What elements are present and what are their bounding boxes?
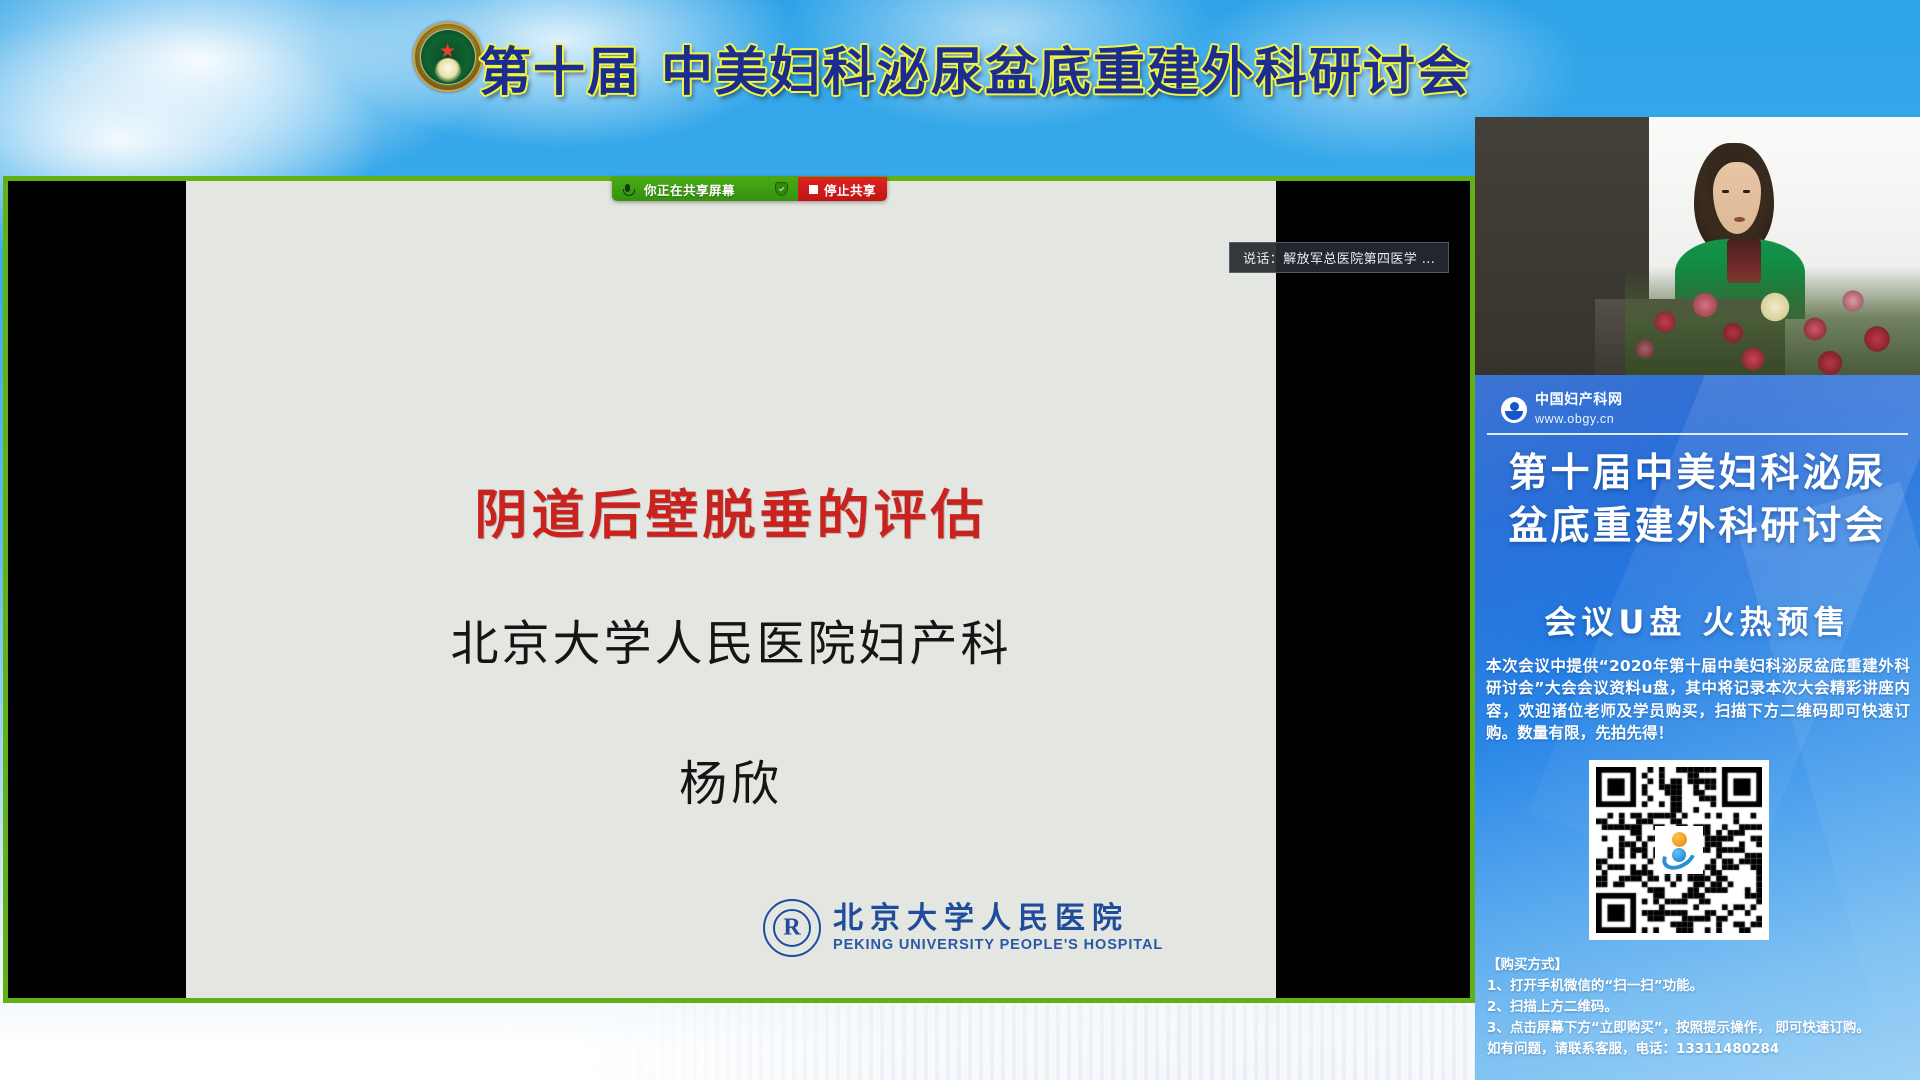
stop-share-button[interactable]: 停止共享 [798,177,887,201]
flower-arrangement [1625,267,1920,375]
obgy-logo-icon [1501,397,1527,423]
purchase-instructions-title: 【购买方式】 [1487,955,1917,976]
purchase-qr-code[interactable] [1589,760,1769,940]
purchase-support-line: 如有问题，请联系客服，电话：13311480284 [1487,1039,1917,1060]
slide-subtitle: 北京大学人民医院妇产科 [186,604,1276,674]
slide-author: 杨欣 [186,744,1276,814]
hospital-logo: R 北京大学人民医院 PEKING UNIVERSITY PEOPLE'S HO… [763,899,1163,957]
qr-logo-dot-blue [1672,848,1686,862]
share-status-label: 你正在共享屏幕 [644,180,735,199]
ad-body-text: 本次会议中提供“2020年第十届中美妇科泌尿盆底重建外科研讨会”大会会议资料u盘… [1486,655,1910,745]
shield-icon[interactable] [775,182,788,196]
ad-headline-line1: 第十届中美妇科泌尿 [1475,447,1920,500]
ad-promo-title: 会议U盘 火热预售 [1475,597,1920,643]
speaker-mouth [1734,217,1745,222]
purchase-step-2: 2、扫描上方二维码。 [1487,997,1917,1018]
conference-ad-panel: 中国妇产科网 www.obgy.cn 第十届中美妇科泌尿 盆底重建外科研讨会 会… [1475,375,1920,1080]
shared-screen-frame: 阴道后壁脱垂的评估 北京大学人民医院妇产科 杨欣 R 北京大学人民医院 PEKI… [3,176,1475,1003]
purchase-instructions: 【购买方式】 1、打开手机微信的“扫一扫”功能。 2、扫描上方二维码。 3、点击… [1487,955,1917,1060]
purchase-step-3: 3、点击屏幕下方“立即购买”，按照提示操作， 即可快速订购。 [1487,1018,1917,1039]
stop-share-label: 停止共享 [824,180,876,199]
presentation-slide: 阴道后壁脱垂的评估 北京大学人民医院妇产科 杨欣 R 北京大学人民医院 PEKI… [186,181,1276,998]
speaker-video-feed[interactable] [1475,117,1920,375]
slide-title: 阴道后壁脱垂的评估 [186,473,1276,549]
screen-share-toolbar[interactable]: 你正在共享屏幕 停止共享 [612,177,887,201]
qr-center-logo-icon [1655,826,1703,874]
microphone-icon[interactable] [621,183,634,196]
hospital-name-en: PEKING UNIVERSITY PEOPLE'S HOSPITAL [833,937,1163,953]
hospital-seal-letter: R [783,915,800,942]
ad-headline: 第十届中美妇科泌尿 盆底重建外科研讨会 [1475,447,1920,553]
purchase-step-1: 1、打开手机微信的“扫一扫”功能。 [1487,976,1917,997]
ad-headline-line2: 盆底重建外科研讨会 [1475,500,1920,553]
speaker-eye-right [1743,190,1750,193]
speaking-indicator: 说话：解放军总医院第四医学 ... [1229,242,1449,273]
ad-divider [1487,433,1908,435]
hospital-name-cn: 北京大学人民医院 [833,903,1163,935]
hospital-seal-icon: R [763,899,821,957]
ad-brand-name: 中国妇产科网 [1535,392,1623,408]
shared-screen-content: 阴道后壁脱垂的评估 北京大学人民医院妇产科 杨欣 R 北京大学人民医院 PEKI… [8,181,1470,998]
ad-brand-text: 中国妇产科网 www.obgy.cn [1535,391,1623,429]
ad-brand[interactable]: 中国妇产科网 www.obgy.cn [1501,391,1623,429]
stop-square-icon [809,185,818,194]
right-sidebar: 中国妇产科网 www.obgy.cn 第十届中美妇科泌尿 盆底重建外科研讨会 会… [1475,0,1920,1080]
hospital-logo-text: 北京大学人民医院 PEKING UNIVERSITY PEOPLE'S HOSP… [833,903,1163,954]
ad-brand-url: www.obgy.cn [1535,412,1614,426]
qr-logo-dot-orange [1672,832,1687,847]
app-root: 第十届 中美妇科泌尿盆底重建外科研讨会 阴道后壁脱垂的评估 北京大学人民医院妇产… [0,0,1920,1080]
speaker-eye-left [1722,190,1729,193]
share-status-group: 你正在共享屏幕 [612,177,798,201]
